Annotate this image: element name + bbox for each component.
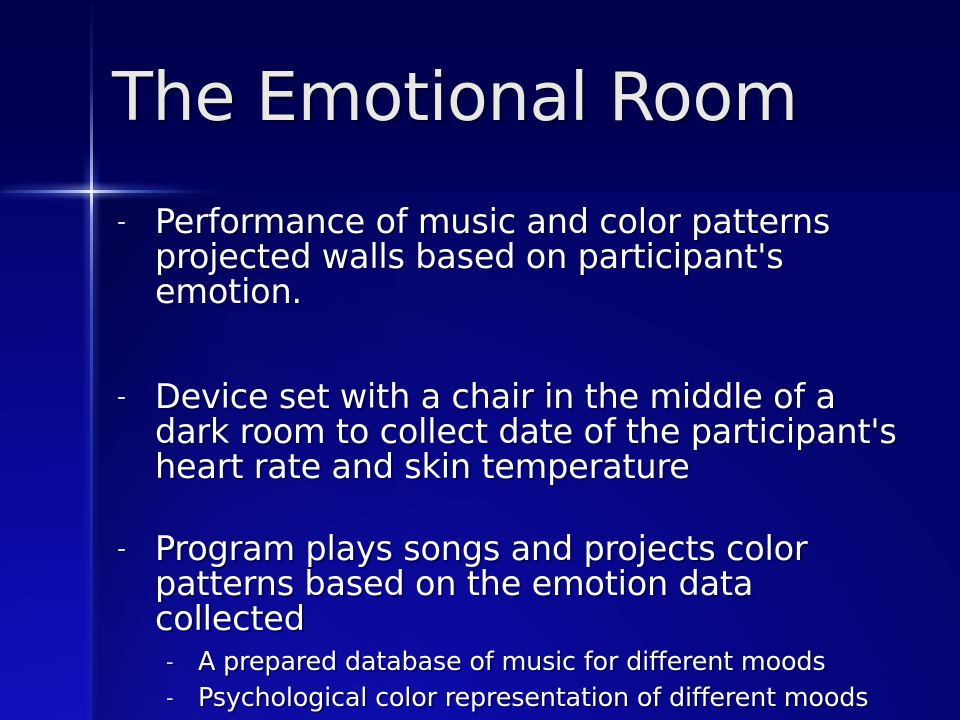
subbullet-text: A prepared database of music for differe…: [198, 647, 825, 677]
subbullet-item: - A prepared database of music for diffe…: [0, 644, 960, 680]
bullet-text: Device set with a chair in the middle of…: [155, 377, 897, 486]
horizontal-rule-glow: [0, 185, 260, 197]
horizontal-accent-line: [0, 190, 300, 193]
slide-body: - Performance of music and color pattern…: [0, 204, 960, 720]
presentation-slide: The Emotional Room - Performance of musi…: [0, 0, 960, 720]
subbullet-item: - Colored combined shapes that represent…: [0, 716, 960, 720]
bullet-dash-icon: -: [117, 379, 135, 415]
bullet-item: - Performance of music and color pattern…: [0, 204, 960, 309]
subbullet-dash-icon: -: [166, 680, 182, 716]
bullet-item: - Program plays songs and projects color…: [0, 531, 960, 636]
subbullet-dash-icon: -: [166, 644, 182, 680]
bullet-dash-icon: -: [117, 531, 135, 567]
bullet-spacer: [0, 309, 960, 379]
bullet-text: Performance of music and color patterns …: [155, 202, 830, 311]
subbullet-text: Psychological color representation of di…: [198, 683, 868, 713]
bullet-dash-icon: -: [117, 204, 135, 240]
slide-title: The Emotional Room: [112, 62, 902, 133]
bullet-spacer: [0, 484, 960, 531]
bullet-item: - Device set with a chair in the middle …: [0, 379, 960, 484]
bullet-text: Program plays songs and projects color p…: [155, 529, 808, 638]
subbullet-dash-icon: -: [166, 716, 182, 720]
subbullet-item: - Psychological color representation of …: [0, 680, 960, 716]
